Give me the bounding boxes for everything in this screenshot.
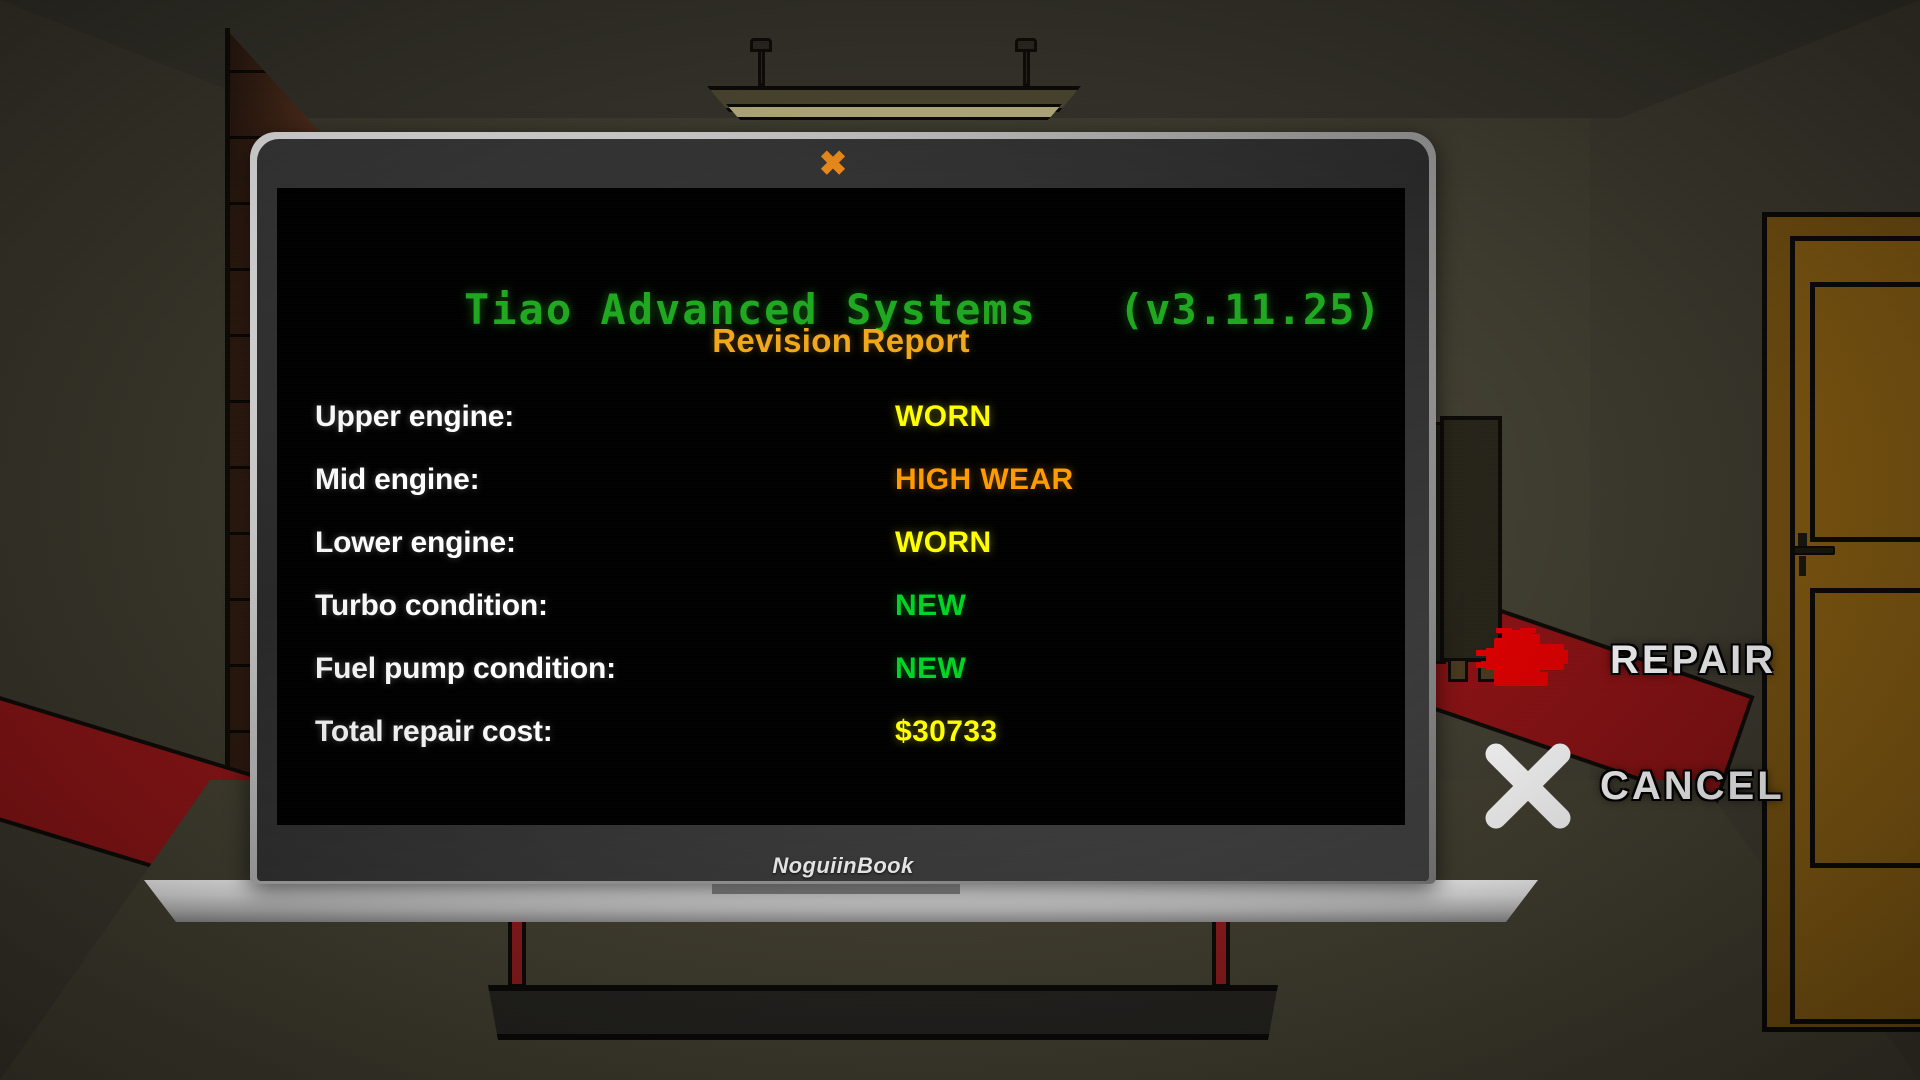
report-row-value: WORN bbox=[895, 526, 1367, 560]
report-row-value: $30733 bbox=[895, 715, 1367, 749]
laptop-screen: Tiao Advanced Systems (v3.11.25) Revisio… bbox=[277, 188, 1405, 825]
app-title-bar: Tiao Advanced Systems (v3.11.25) bbox=[277, 236, 1405, 383]
room-scene: ✖ NoguiinBook Tiao Advanced Systems (v3.… bbox=[0, 0, 1920, 1080]
report-row-value: WORN bbox=[895, 400, 1367, 434]
report-row-label: Upper engine: bbox=[315, 400, 895, 434]
report-row-value: NEW bbox=[895, 652, 1367, 686]
cancel-button[interactable]: CANCEL bbox=[1468, 740, 1785, 832]
door-panel-top bbox=[1810, 282, 1920, 542]
door-latch-lower bbox=[1799, 556, 1806, 576]
report-row: Fuel pump condition:NEW bbox=[315, 652, 1367, 715]
ceiling-lamp-tube bbox=[726, 104, 1062, 120]
report-row: Mid engine:HIGH WEAR bbox=[315, 463, 1367, 526]
report-row-label: Turbo condition: bbox=[315, 589, 895, 623]
report-rows-list: Upper engine:WORNMid engine:HIGH WEARLow… bbox=[277, 400, 1405, 778]
report-row-value: HIGH WEAR bbox=[895, 463, 1367, 497]
cancel-button-label: CANCEL bbox=[1600, 764, 1785, 809]
report-row-label: Fuel pump condition: bbox=[315, 652, 895, 686]
report-row: Lower engine:WORN bbox=[315, 526, 1367, 589]
door-panel-bottom bbox=[1810, 588, 1920, 868]
close-x-icon bbox=[1482, 740, 1574, 832]
lamp-cap-left bbox=[750, 38, 772, 52]
report-row-label: Total repair cost: bbox=[315, 715, 895, 749]
report-row-label: Mid engine: bbox=[315, 463, 895, 497]
workbench-top bbox=[478, 985, 1288, 1040]
door-handle[interactable] bbox=[1793, 546, 1835, 555]
close-icon[interactable]: ✖ bbox=[812, 143, 854, 185]
cabinet-foot-left bbox=[1448, 658, 1468, 682]
report-row: Upper engine:WORN bbox=[315, 400, 1367, 463]
repair-button[interactable]: REPAIR bbox=[1468, 620, 1776, 700]
lamp-cap-right bbox=[1015, 38, 1037, 52]
laptop-brand-label: NoguiinBook bbox=[257, 848, 1429, 884]
report-row-value: NEW bbox=[895, 589, 1367, 623]
report-row-label: Lower engine: bbox=[315, 526, 895, 560]
report-row: Total repair cost:$30733 bbox=[315, 715, 1367, 778]
report-title: Revision Report bbox=[277, 322, 1405, 360]
engine-icon bbox=[1472, 620, 1584, 700]
repair-button-label: REPAIR bbox=[1610, 638, 1776, 683]
door-latch-upper bbox=[1798, 533, 1807, 546]
report-row: Turbo condition:NEW bbox=[315, 589, 1367, 652]
